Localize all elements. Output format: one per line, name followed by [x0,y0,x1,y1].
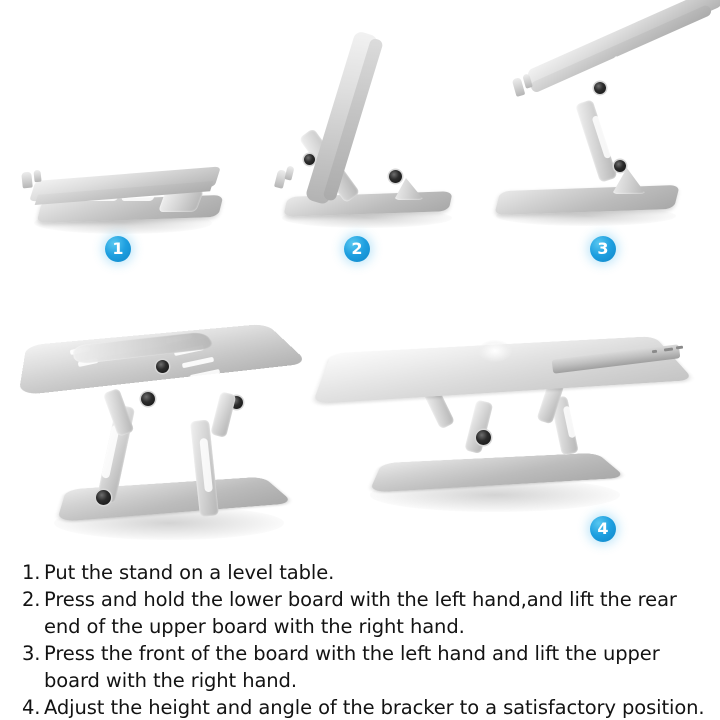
step-3-number: 3. [22,640,44,667]
figure-3-lower-hinge-knob [614,160,626,172]
step-4-number: 4. [22,694,44,720]
figure-1-front-lip [21,172,33,189]
figure-2-lower-hinge-knob [389,170,402,183]
figure-4-badge: 4 [590,516,616,542]
figure-1-front-lip [33,170,41,183]
figure-2-photo [270,10,460,235]
figure-3-vent [614,56,623,69]
figure-3-board-hinge-knob [594,82,606,94]
figure-1-badge: 1 [105,236,131,262]
figure-3-vent [627,51,636,64]
figure-4b-laptop-port [676,346,683,350]
figure-3-badge: 3 [590,236,616,262]
figure-4b-photo [316,302,712,532]
instruction-step-1: 1. Put the stand on a level table. [22,559,706,586]
figure-3-vent [640,46,649,59]
figure-4a-left-upper-knob [141,392,155,406]
figure-2-board-hinge-knob [304,154,315,165]
instruction-step-2: 2. Press and hold the lower board with t… [22,586,706,640]
figure-3-lower-arm [575,99,617,183]
figure-2-vent [314,76,326,83]
instruction-step-3: 3. Press the front of the board with the… [22,640,706,694]
step-1-text: Put the stand on a level table. [44,559,706,586]
step-2-text: Press and hold the lower board with the … [44,586,706,640]
figure-2-badge: 2 [344,236,370,262]
figure-4b-left-lower-knob [476,430,491,445]
figure-4a-photo [14,292,310,550]
figure-2-front-lip [284,165,294,180]
step-1-number: 1. [22,559,44,586]
instruction-infographic: 1 2 [0,0,720,720]
figure-1-photo [10,150,230,240]
step-2-number: 2. [22,586,44,613]
figure-4b-laptop-port [652,350,657,354]
figure-4b-laptop-logo [478,340,512,362]
figure-4a-right-upper-arm [210,391,236,438]
figure-3-photo [490,10,718,235]
figure-2-vent [317,62,329,69]
figure-2-vent [311,90,323,97]
figure-3-board-underside [529,4,713,94]
figure-3-vent [653,41,662,54]
step-4-text: Adjust the height and angle of the brack… [44,694,706,720]
figure-2-vent [308,104,320,111]
figure-4a-center-knob [156,360,169,373]
figure-4a-left-lower-knob [96,490,111,505]
instruction-step-4: 4. Adjust the height and angle of the br… [22,694,706,720]
instruction-list: 1. Put the stand on a level table. 2. Pr… [22,559,706,720]
figure-3-pivot-foot [612,168,646,194]
step-3-text: Press the front of the board with the le… [44,640,706,694]
